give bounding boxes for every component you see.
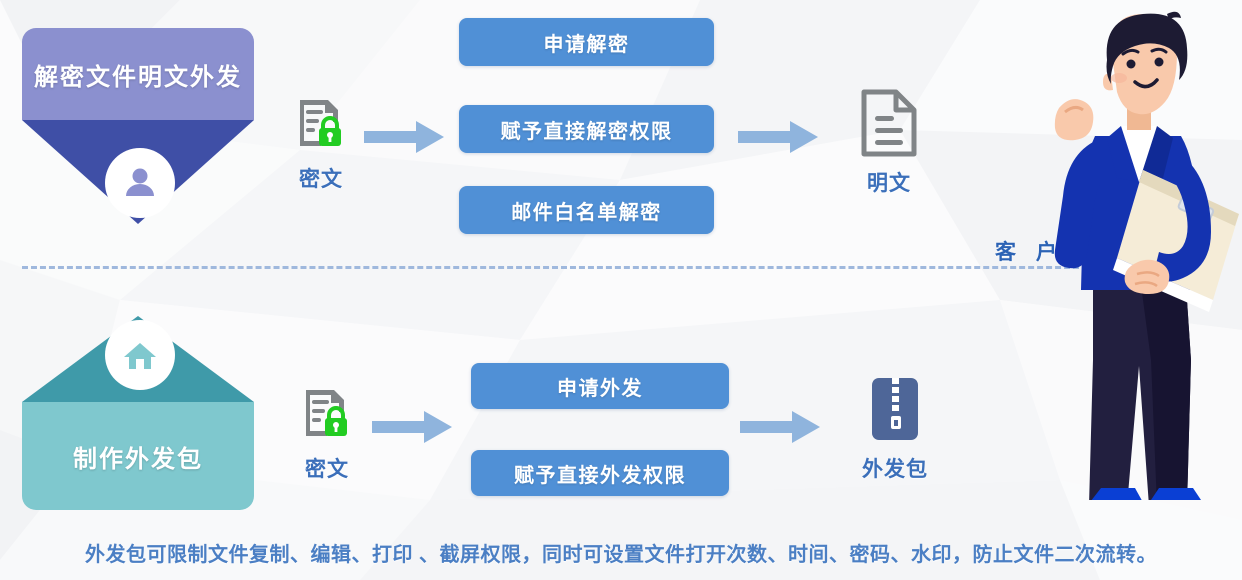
encrypted-document-icon (292, 96, 350, 154)
home-icon (105, 320, 175, 390)
source-ciphertext-bottom: 密文 (298, 386, 356, 483)
source-ciphertext-top-label: 密文 (292, 163, 350, 193)
businessman-with-folder-illustration (1035, 8, 1242, 500)
infographic-canvas: 解密文件明文外发 密文 申请解密 赋予直接解密权限 邮件白名单解密 (0, 0, 1242, 580)
person-icon (105, 148, 175, 218)
button-grant-decrypt-permission[interactable]: 赋予直接解密权限 (459, 105, 714, 153)
encrypted-document-icon (298, 386, 356, 444)
button-apply-outgoing[interactable]: 申请外发 (471, 363, 729, 409)
flow-card-outgoing-package-title: 制作外发包 (22, 402, 254, 510)
arrow-right-icon-top-right (738, 120, 818, 154)
button-apply-decrypt[interactable]: 申请解密 (459, 18, 714, 66)
button-grant-outgoing-permission[interactable]: 赋予直接外发权限 (471, 450, 729, 496)
section-divider (22, 266, 1097, 269)
result-outgoing-package: 外发包 (862, 376, 928, 483)
source-ciphertext-bottom-label: 密文 (298, 453, 356, 483)
arrow-right-icon-bottom-right (740, 410, 820, 444)
zip-package-icon (864, 376, 926, 444)
flow-card-decrypt-title: 解密文件明文外发 (22, 28, 254, 120)
footer-caption: 外发包可限制文件复制、编辑、打印 、截屏权限，同时可设置文件打开次数、时间、密码… (0, 538, 1242, 567)
arrow-right-icon-bottom-left (372, 410, 452, 444)
button-mail-whitelist-decrypt[interactable]: 邮件白名单解密 (459, 186, 714, 234)
arrow-right-icon-top-left (364, 120, 444, 154)
flow-card-decrypt[interactable]: 解密文件明文外发 (22, 28, 254, 120)
result-plaintext-label: 明文 (858, 167, 920, 197)
result-plaintext: 明文 (858, 88, 920, 197)
source-ciphertext-top: 密文 (292, 96, 350, 193)
result-outgoing-package-label: 外发包 (862, 453, 928, 483)
plain-document-icon (858, 88, 920, 158)
